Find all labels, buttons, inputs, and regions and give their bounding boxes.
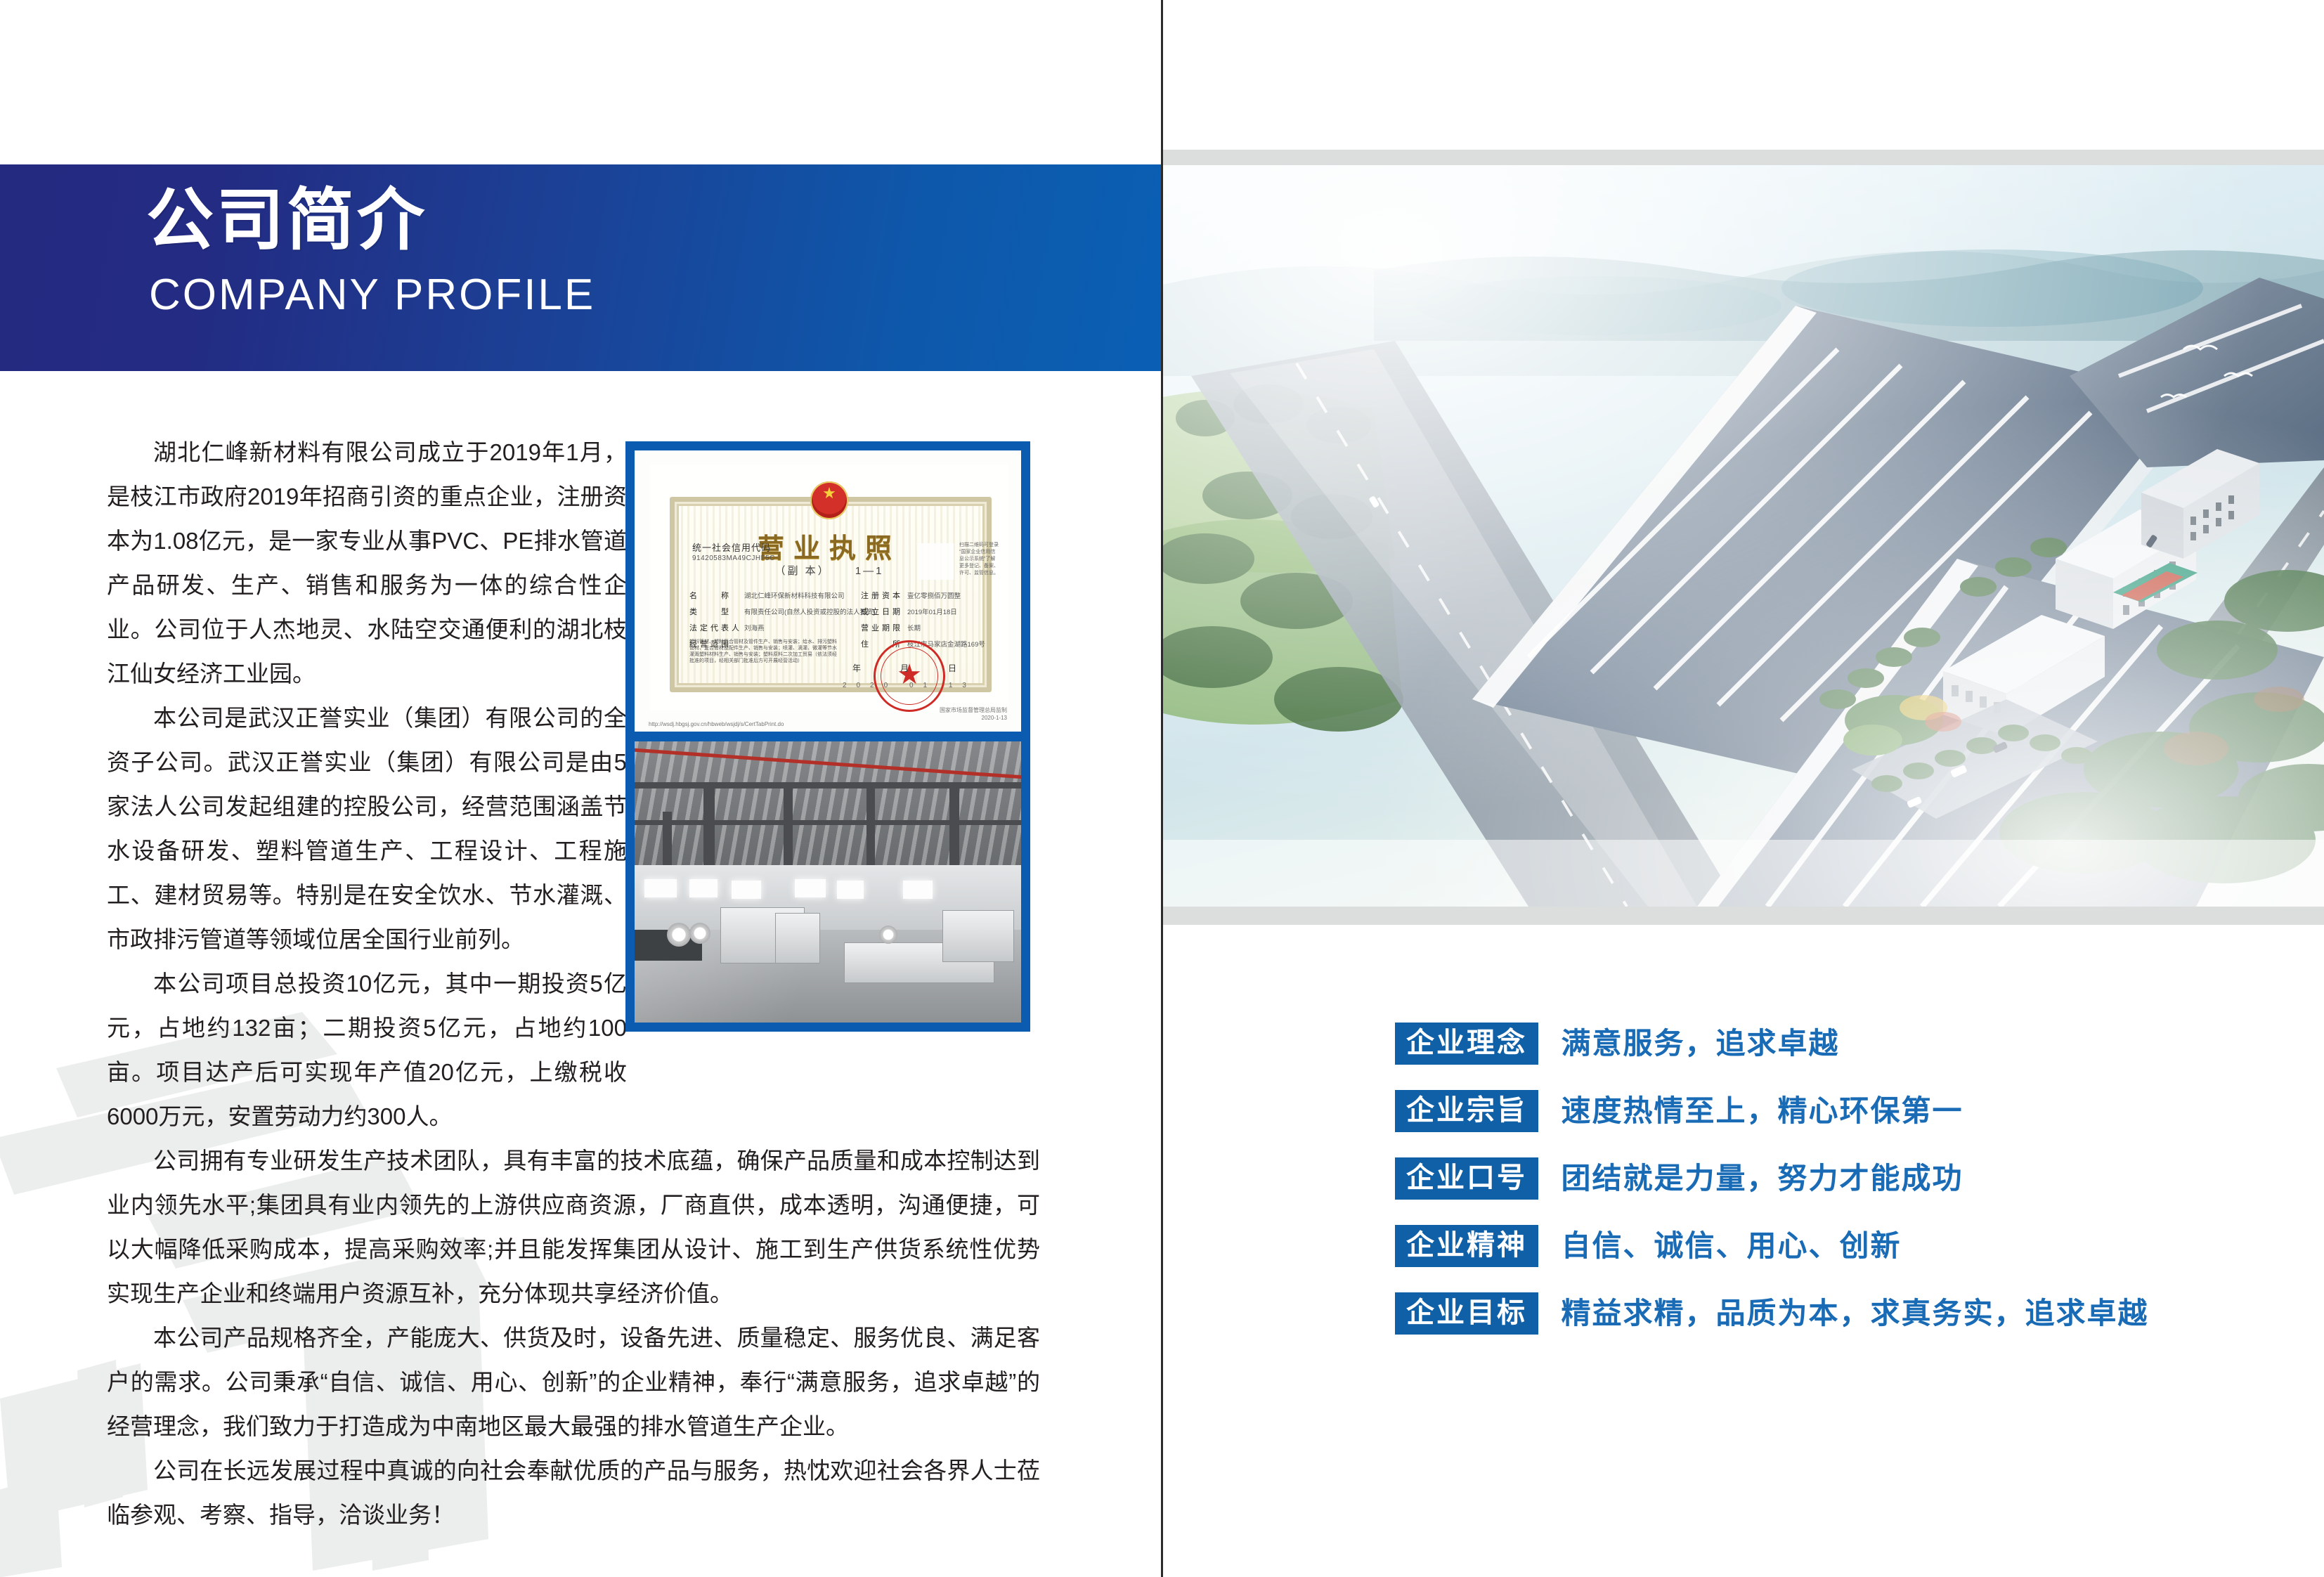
profile-paragraph: 本公司是武汉正誉实业（集团）有限公司的全资子公司。武汉正誉实业（集团）有限公司是… (107, 696, 627, 961)
value-label-badge: 企业口号 (1395, 1157, 1538, 1200)
license-footer-issuer: 国家市场监督管理总局监制 2020-1-13 (940, 706, 1007, 722)
business-license-image: * 页码：1/1（1） 营业执照 （副 本） 1—1 统一社会信用代码 9142… (635, 450, 1021, 732)
page-gutter-divider (1161, 0, 1163, 1577)
license-field-value: 刘海燕 (744, 625, 765, 632)
license-date-value: 2020 01 13 (843, 682, 976, 689)
qr-code-icon (917, 543, 954, 580)
value-row: 企业宗旨 速度热情至上，精心环保第一 (1395, 1090, 2309, 1157)
national-emblem-icon (810, 481, 848, 519)
license-date-labels: 年 月 日 (852, 662, 972, 674)
license-qr-note: 扫描二维码可登录“国家企业信用信息公示系统”了解更多登记、备案、许可、监管信息。 (959, 542, 999, 577)
profile-paragraph: 公司在长远发展过程中真诚的向社会奉献优质的产品与服务，热忱欢迎社会各界人士莅临参… (107, 1448, 1040, 1537)
license-field-key: 名 称 (689, 588, 744, 604)
license-field-value: 2019年01月18日 (907, 609, 957, 616)
license-field-value: 湖北仁峰环保新材料科技有限公司 (744, 592, 845, 600)
license-footer-url: http://wsdj.hbgsj.gov.cn/hbweb/wsjdj/s/C… (649, 721, 784, 727)
value-text: 满意服务，追求卓越 (1561, 1029, 1839, 1058)
value-text: 精益求精，品质为本，求真务实，追求卓越 (1561, 1299, 2148, 1328)
value-row: 企业目标 精益求精，品质为本，求真务实，追求卓越 (1395, 1292, 2309, 1360)
license-field-value: 壹亿零捌佰万圆整 (907, 592, 961, 600)
value-text: 速度热情至上，精心环保第一 (1561, 1096, 1963, 1126)
license-issuer-text: 国家市场监督管理总局监制 (940, 706, 1007, 714)
corporate-values-list: 企业理念 满意服务，追求卓越 企业宗旨 速度热情至上，精心环保第一 企业口号 团… (1395, 1023, 2309, 1360)
value-label-badge: 企业目标 (1395, 1292, 1538, 1335)
license-field-value: 长期 (907, 625, 921, 632)
license-field-key: 成立日期 (861, 604, 907, 620)
license-field-key: 类 型 (689, 604, 744, 620)
official-seal-icon (874, 640, 945, 712)
license-copy-label: （副 本） (774, 565, 830, 577)
license-field-value: 有限责任公司(自然人投资或控股的法人独资) (744, 609, 876, 616)
profile-paragraph: 本公司项目总投资10亿元，其中一期投资5亿元，占地约132亩；二期投资5亿元，占… (107, 961, 627, 1138)
aerial-bottom-strip (1163, 907, 2324, 925)
factory-interior-image (635, 741, 1021, 1023)
value-row: 企业精神 自信、诚信、用心、创新 (1395, 1225, 2309, 1292)
value-row: 企业口号 团结就是力量，努力才能成功 (1395, 1157, 2309, 1225)
profile-paragraph: 本公司产品规格齐全，产能庞大、供货及时，设备先进、质量稳定、服务优良、满足客户的… (107, 1316, 1040, 1448)
license-code-label: 统一社会信用代码 (692, 540, 771, 554)
value-label-badge: 企业理念 (1395, 1023, 1538, 1065)
license-code-value: 91420583MA49CJHF5C (692, 554, 775, 562)
brochure-spread: 公司简介 COMPANY PROFILE 湖北仁峰新材料有限公司成立于2019年… (0, 0, 2324, 1577)
license-print-date: 2020-1-13 (940, 714, 1007, 722)
right-page: 企业理念 满意服务，追求卓越 企业宗旨 速度热情至上，精心环保第一 企业口号 团… (1163, 0, 2324, 1577)
page-subtitle: COMPANY PROFILE (149, 273, 595, 317)
aerial-top-strip (1163, 150, 2324, 165)
value-row: 企业理念 满意服务，追求卓越 (1395, 1023, 2309, 1090)
license-field-key: 营业期限 (861, 621, 907, 636)
profile-paragraph: 湖北仁峰新材料有限公司成立于2019年1月，是枝江市政府2019年招商引资的重点… (107, 430, 627, 696)
left-page: 公司简介 COMPANY PROFILE 湖北仁峰新材料有限公司成立于2019年… (0, 0, 1161, 1577)
page-header-band: 公司简介 COMPANY PROFILE (0, 164, 1161, 371)
page-title: 公司简介 (146, 187, 427, 254)
license-field-key: 注册资本 (861, 588, 907, 604)
photo-frame: * 页码：1/1（1） 营业执照 （副 本） 1—1 统一社会信用代码 9142… (625, 441, 1030, 1032)
value-label-badge: 企业精神 (1395, 1225, 1538, 1267)
value-text: 自信、诚信、用心、创新 (1561, 1231, 1901, 1261)
profile-paragraph: 公司拥有专业研发生产技术团队，具有丰富的技术底蕴，确保产品质量和成本控制达到业内… (107, 1138, 1040, 1316)
license-scope-text: 塑料管材、塑料复合管材及管件生产、销售与安装；给水、排污塑料管材、复合管材及配件… (689, 639, 837, 664)
value-text: 团结就是力量，努力才能成功 (1561, 1164, 1963, 1193)
license-field-key: 法定代表人 (689, 621, 744, 636)
license-page-label: 1—1 (855, 565, 884, 577)
factory-aerial-image (1163, 165, 2324, 907)
value-label-badge: 企业宗旨 (1395, 1090, 1538, 1132)
